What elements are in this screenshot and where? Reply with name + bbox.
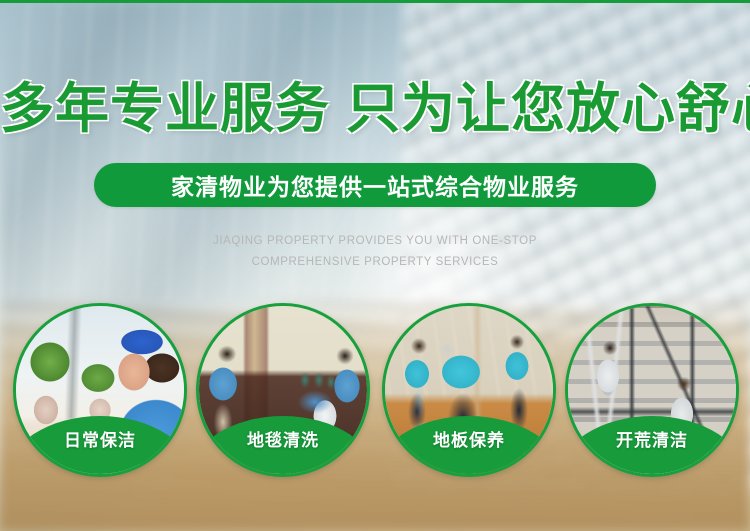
service-card-list: 日常保洁 地毯清洗 地板保养 开荒清洁 <box>0 0 750 531</box>
service-card-floor-maintenance[interactable]: 地板保养 <box>382 303 556 477</box>
promotional-banner: 多年专业服务 只为让您放心舒心 家清物业为您提供一站式综合物业服务 JIAQIN… <box>0 0 750 531</box>
service-card-label: 日常保洁 <box>64 426 136 451</box>
service-card-label: 地毯清洗 <box>247 426 319 451</box>
service-card-post-construction-cleaning[interactable]: 开荒清洁 <box>565 303 739 477</box>
service-card-carpet-cleaning[interactable]: 地毯清洗 <box>196 303 370 477</box>
top-green-rule <box>0 0 750 3</box>
service-card-daily-cleaning[interactable]: 日常保洁 <box>13 303 187 477</box>
service-card-label: 开荒清洁 <box>616 426 688 451</box>
service-card-label: 地板保养 <box>433 426 505 451</box>
